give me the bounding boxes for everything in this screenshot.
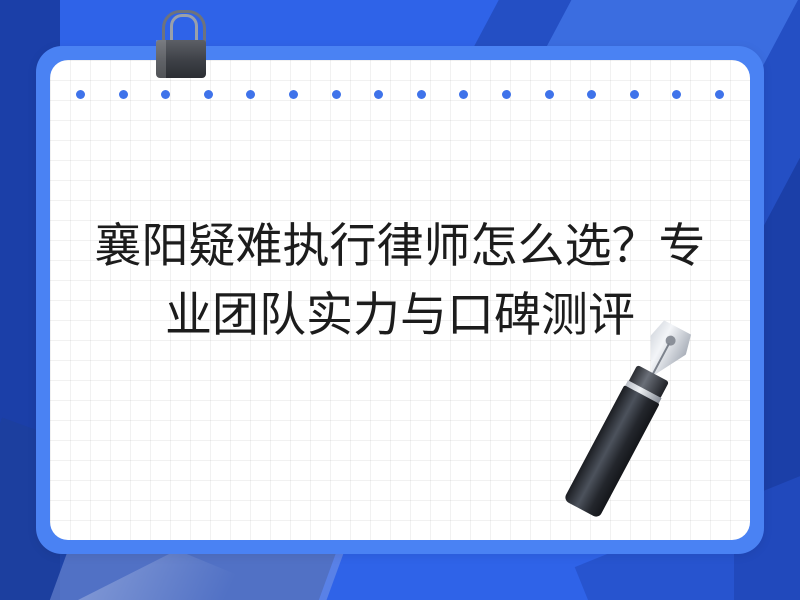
punch-dot xyxy=(332,90,341,99)
punch-dot xyxy=(459,90,468,99)
punch-dot xyxy=(715,90,724,99)
punch-dot xyxy=(587,90,596,99)
binder-clip-icon xyxy=(150,8,212,80)
punch-dot xyxy=(76,90,85,99)
page-title: 襄阳疑难执行律师怎么选？专业团队实力与口碑测评 xyxy=(50,212,750,350)
punch-dot xyxy=(374,90,383,99)
punch-dot xyxy=(545,90,554,99)
punch-dot xyxy=(161,90,170,99)
pen-nib-slit xyxy=(651,343,670,376)
poster-canvas: 襄阳疑难执行律师怎么选？专业团队实力与口碑测评 xyxy=(0,0,800,600)
punch-dot xyxy=(204,90,213,99)
punch-dot xyxy=(672,90,681,99)
punch-hole-row xyxy=(50,90,750,100)
page-title-text: 襄阳疑难执行律师怎么选？专业团队实力与口碑测评 xyxy=(72,212,728,350)
punch-dot xyxy=(246,90,255,99)
binder-clip-body xyxy=(156,40,206,78)
punch-dot xyxy=(119,90,128,99)
punch-dot xyxy=(630,90,639,99)
punch-dot xyxy=(289,90,298,99)
punch-dot xyxy=(502,90,511,99)
punch-dot xyxy=(417,90,426,99)
